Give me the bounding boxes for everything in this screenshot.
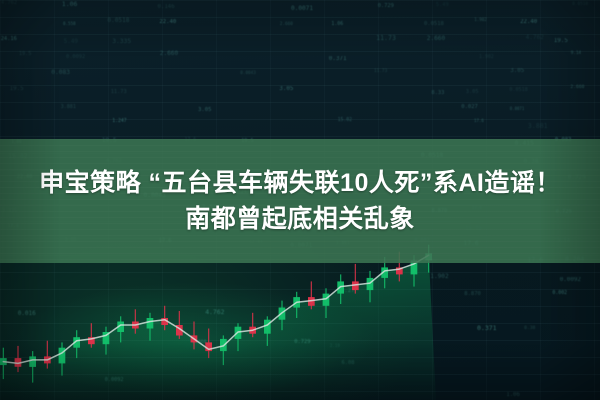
headline-line-1: 申宝策略 “五台县车辆失联10人死”系AI造谣！	[39, 167, 561, 199]
headline-block: 申宝策略 “五台县车辆失联10人死”系AI造谣！ 南都曾起底相关乱象	[0, 139, 600, 263]
news-cover-image: 4.7621.060.1460.00710.7295.490.05180.558…	[0, 0, 600, 400]
headline-line-2: 南都曾起底相关乱象	[185, 203, 415, 235]
